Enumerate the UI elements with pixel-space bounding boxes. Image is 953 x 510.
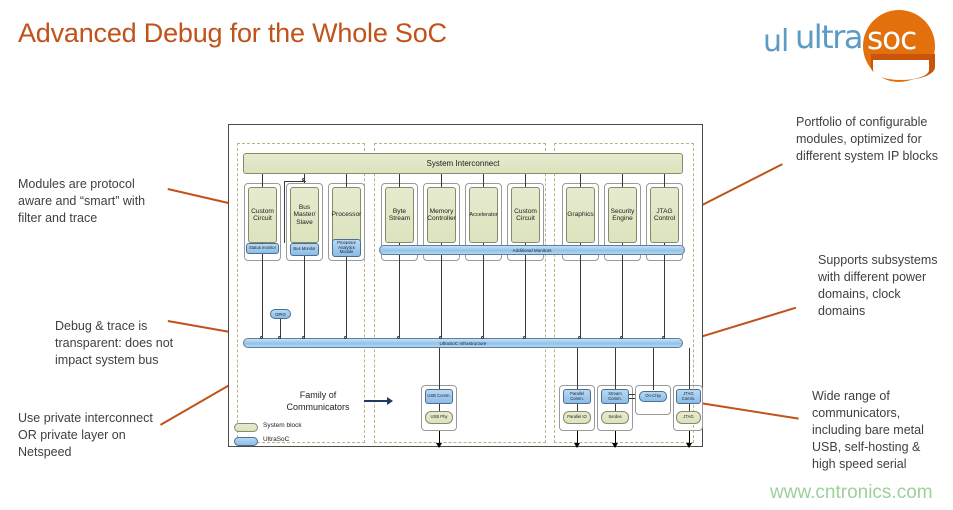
- block-label: Processor: [332, 211, 362, 218]
- wire: [441, 255, 442, 339]
- bus-node: [662, 336, 665, 339]
- wire: [577, 404, 578, 411]
- block-processor: Processor: [332, 187, 361, 243]
- wire: [622, 174, 623, 187]
- phy-label: Serdes: [608, 415, 621, 420]
- wire: [483, 174, 484, 187]
- io-arrow: [689, 431, 690, 443]
- logo-mark: ul: [763, 24, 788, 59]
- phy-label: USB Phy: [431, 415, 448, 420]
- wire: [615, 404, 616, 411]
- wire: [664, 174, 665, 187]
- legend-swatch-green: [234, 423, 258, 432]
- wire: [525, 174, 526, 187]
- family-of-communicators-label: Family of Communicators: [276, 389, 360, 413]
- annotation-private-interconnect: Use private interconnect OR private laye…: [18, 410, 158, 461]
- legend: System block UltraSoC: [234, 422, 344, 450]
- block-security-engine: Security Engine: [608, 187, 637, 243]
- bus-node: [302, 336, 305, 339]
- communicator-parallel-comm: Parallel Comm.: [563, 389, 591, 404]
- block-label: Accelerator: [469, 212, 497, 218]
- block-label: Byte Stream: [386, 208, 413, 222]
- io-arrow: [439, 431, 440, 443]
- wire: [262, 174, 263, 187]
- communicator-stream-comm: Stream Comm.: [601, 389, 629, 404]
- communicator-jtag-comm: JTAG Comm.: [676, 389, 701, 404]
- block-custom-circuit-2: Custom Circuit: [511, 187, 540, 243]
- block-label: Memory Controller: [427, 208, 456, 222]
- bus-node: [344, 336, 347, 339]
- wire: [439, 404, 440, 411]
- wire: [346, 257, 347, 339]
- wire: [577, 348, 578, 390]
- monitor-label: Bus Monitor: [293, 247, 315, 251]
- additional-monitors-bar: Additional Monitors: [379, 245, 685, 255]
- wire: [262, 243, 263, 244]
- wire: [284, 181, 306, 182]
- monitor-bus-monitor: Bus Monitor: [290, 243, 319, 256]
- family-arrow-icon: [364, 400, 388, 402]
- wire: [689, 404, 690, 411]
- legend-item-system-block: System block: [234, 422, 344, 434]
- monitor-processor-analytics: Processor Analytics Module: [332, 239, 361, 257]
- block-accelerator: Accelerator: [469, 187, 498, 243]
- bus-node: [260, 336, 263, 339]
- annotation-modules-protocol-aware: Modules are protocol aware and “smart” w…: [18, 176, 168, 227]
- watermark: www.cntronics.com: [770, 482, 933, 504]
- legend-label: UltraSoC: [263, 436, 289, 443]
- leader-line-left-top: [167, 188, 236, 206]
- phy-jtag: JTAG: [676, 411, 701, 424]
- tap-node: [302, 178, 305, 181]
- additional-monitors-label: Additional Monitors: [512, 248, 551, 253]
- connector-dash: [629, 398, 635, 399]
- phy-label: JTAG: [683, 415, 693, 420]
- wire: [580, 255, 581, 339]
- legend-swatch-blue: [234, 437, 258, 446]
- wire: [262, 254, 263, 339]
- legend-label: System block: [263, 422, 302, 429]
- monitor-label: Status monitor: [249, 246, 276, 250]
- ultrasoc-infrastructure-bar: UltraSoC Infrastructure: [243, 338, 683, 348]
- leader-line-right-mid: [700, 307, 796, 339]
- block-bus-master-slave: Bus Master/ Slave: [290, 187, 319, 243]
- phy-usb: USB Phy: [425, 411, 453, 424]
- communicator-label: Parallel Comm.: [564, 392, 590, 401]
- wire: [653, 348, 654, 390]
- io-arrow: [577, 431, 578, 443]
- communicator-label: JTAG Comm.: [677, 392, 700, 401]
- wire: [483, 255, 484, 339]
- bus-node: [439, 336, 442, 339]
- wire: [346, 243, 347, 244]
- wire: [615, 348, 616, 390]
- gpio-oval: GPIO: [270, 309, 291, 319]
- annotation-communicators-range: Wide range of communicators, including b…: [812, 388, 942, 473]
- slide-canvas: Advanced Debug for the Whole SoC ul ultr…: [0, 0, 953, 510]
- bus-node: [481, 336, 484, 339]
- annotation-power-domains: Supports subsystems with different power…: [818, 252, 950, 320]
- block-label: JTAG Control: [651, 208, 678, 222]
- bus-node: [620, 336, 623, 339]
- block-graphics: Graphics: [566, 187, 595, 243]
- phy-parallel-io: Parallel IO: [563, 411, 591, 424]
- wire: [525, 255, 526, 339]
- wire: [580, 174, 581, 187]
- communicator-on-chip: On-Chip: [639, 391, 667, 402]
- wire: [441, 174, 442, 187]
- ultrasoc-logo: ul ultra soc: [755, 8, 945, 74]
- bus-node: [397, 336, 400, 339]
- wire: [284, 181, 285, 243]
- communicator-label: USB Comm.: [427, 394, 450, 398]
- leader-line-right-top: [700, 163, 783, 207]
- block-label: Custom Circuit: [512, 208, 539, 222]
- bus-node: [578, 336, 581, 339]
- bus-node: [523, 336, 526, 339]
- monitor-status-monitor: Status monitor: [246, 243, 279, 254]
- wire: [399, 255, 400, 339]
- wire: [399, 174, 400, 187]
- block-label: Bus Master/ Slave: [291, 204, 318, 225]
- annotation-debug-transparent: Debug & trace is transparent: does not i…: [55, 318, 195, 369]
- wire: [346, 174, 347, 187]
- block-label: Security Engine: [609, 208, 636, 222]
- wire: [689, 348, 690, 390]
- wire: [439, 348, 440, 390]
- logo-wordmark: ultra: [795, 18, 862, 56]
- communicator-label: On-Chip: [645, 394, 661, 398]
- wire: [622, 255, 623, 339]
- block-label: Custom Circuit: [249, 208, 276, 222]
- logo-swoosh: [873, 60, 929, 80]
- block-memory-controller: Memory Controller: [427, 187, 456, 243]
- block-label: Graphics: [567, 211, 593, 218]
- phy-serdes: Serdes: [601, 411, 629, 424]
- system-interconnect-bar: System Interconnect: [243, 153, 683, 174]
- wire: [664, 255, 665, 339]
- logo-soc-text: soc: [867, 21, 916, 57]
- phy-label: Parallel IO: [567, 415, 587, 420]
- annotation-portfolio-modules: Portfolio of configurable modules, optim…: [796, 114, 946, 165]
- gpio-label: GPIO: [275, 312, 285, 317]
- connector-dash: [629, 394, 635, 395]
- io-arrow: [615, 431, 616, 443]
- block-byte-stream: Byte Stream: [385, 187, 414, 243]
- communicator-usb-comm: USB Comm.: [425, 389, 453, 404]
- page-title: Advanced Debug for the Whole SoC: [18, 18, 447, 49]
- wire: [304, 256, 305, 339]
- legend-item-ultrasoc: UltraSoC: [234, 436, 344, 448]
- bus-node: [278, 336, 281, 339]
- system-interconnect-label: System Interconnect: [427, 159, 500, 168]
- communicator-label: Stream Comm.: [602, 392, 628, 401]
- block-custom-circuit-1: Custom Circuit: [248, 187, 277, 243]
- ultrasoc-infrastructure-label: UltraSoC Infrastructure: [440, 341, 487, 346]
- block-jtag-control: JTAG Control: [650, 187, 679, 243]
- leader-line-right-bottom: [700, 402, 799, 420]
